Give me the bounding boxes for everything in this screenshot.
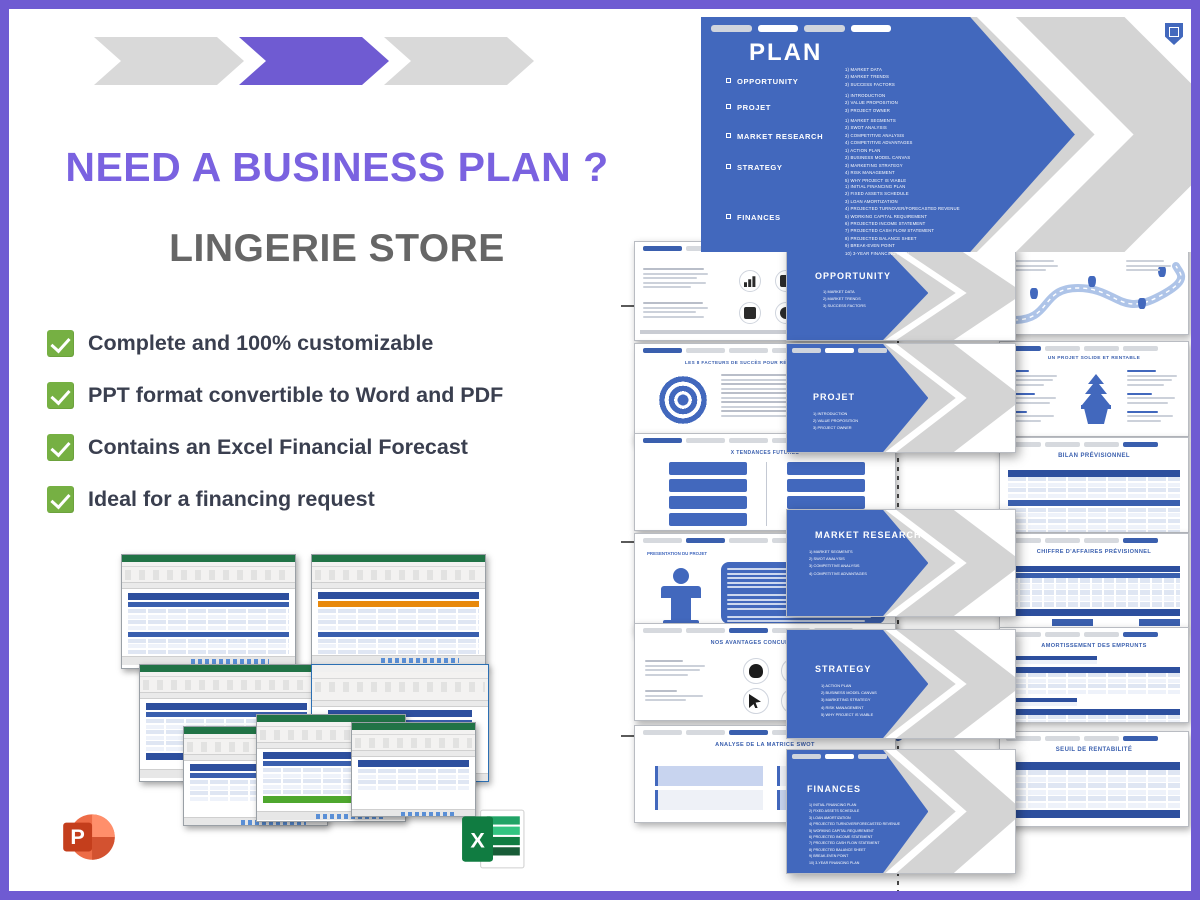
slide-heading: PROJET [813, 392, 855, 402]
people-icon [744, 307, 756, 319]
slide-nav [792, 754, 888, 759]
list-item: Complete and 100% customizable [47, 317, 627, 369]
slide-list: 1) ACTION PLAN 2) BUSINESS MODEL CANVAS … [821, 682, 877, 718]
checkbox-icon [726, 133, 731, 138]
checkbox-icon [726, 214, 731, 219]
slide-heading: STRATEGY [815, 664, 871, 674]
slide-list: 1) INTRODUCTION 2) VALUE PROPOSITION 3) … [813, 410, 858, 432]
plan-items-projet: 1) INTRODUCTION 2) VALUE PROPOSITION 3) … [845, 92, 898, 114]
slide-heading: OPPORTUNITY [815, 271, 891, 281]
list-item: Ideal for a financing request [47, 473, 627, 525]
powerpoint-icon: P [57, 804, 123, 870]
plan-items-market-research: 1) MARKET SEGMENTS 2) SWOT ANALYSIS 3) C… [845, 117, 913, 147]
thumb-text-left-2 [643, 302, 711, 320]
thumb-title: PRESENTATION DU PROJET [647, 551, 707, 556]
thumb-title: ANALYSE DE LA MATRICE SWOT [635, 742, 895, 748]
roadmap-thumb[interactable] [999, 239, 1189, 335]
balance-sheet-thumb[interactable]: BILAN PRÉVISIONNEL [999, 437, 1189, 533]
thumb-text [1126, 260, 1174, 274]
slide-heading: MARKET RESEARCH [815, 530, 922, 540]
feature-label: Complete and 100% customizable [88, 331, 433, 356]
table [1008, 656, 1180, 723]
thumb-title: SEUIL DE RENTABILITÉ [1000, 747, 1188, 753]
excel-icon: X [459, 806, 527, 872]
opportunity-slide[interactable]: OPPORTUNITY 1) MARKET DATA 2) MARKET TRE… [786, 245, 1016, 341]
plan-section-strategy: STRATEGY [726, 163, 783, 172]
feature-label: PPT format convertible to Word and PDF [88, 383, 503, 408]
slide-list: 1) MARKET SEGMENTS 2) SWOT ANALYSIS 3) C… [809, 548, 867, 577]
checkbox-icon [726, 78, 731, 83]
slide-nav [1006, 736, 1158, 741]
finances-slide[interactable]: FINANCES 1) INITIAL FINANCING PLAN 2) FI… [786, 749, 1016, 874]
slide-list: 1) MARKET DATA 2) MARKET TRENDS 3) SUCCE… [823, 288, 866, 310]
thumb-title: AMORTISSEMENT DES EMPRUNTS [1000, 643, 1188, 649]
slide-heading: FINANCES [807, 784, 861, 794]
check-icon [47, 486, 74, 513]
list-item: Contains an Excel Financial Forecast [47, 421, 627, 473]
plan-items-finances: 1) INITIAL FINANCING PLAN 2) FIXED ASSET… [845, 183, 960, 257]
label-group-right [1127, 370, 1179, 424]
slide-nav [711, 25, 891, 32]
excel-window-7[interactable] [351, 722, 476, 817]
slide-list: 1) INITIAL FINANCING PLAN 2) FIXED ASSET… [809, 802, 900, 866]
map-pin-icon [1030, 288, 1038, 299]
market-research-slide[interactable]: MARKET RESEARCH 1) MARKET SEGMENTS 2) SW… [786, 509, 1016, 617]
map-pin-icon [1138, 298, 1146, 309]
thumb-text [1014, 260, 1062, 274]
table [1008, 470, 1180, 533]
plan-section-projet: PROJET [726, 103, 771, 112]
page-subtitle: LINGERIE STORE [57, 227, 617, 271]
plan-section-opportunity: OPPORTUNITY [726, 77, 798, 86]
slide-heading: PLAN [749, 39, 822, 67]
plan-items-strategy: 1) ACTION PLAN 2) BUSINESS MODEL CANVAS … [845, 147, 910, 184]
table [1008, 566, 1180, 626]
label-group-left [1009, 370, 1059, 424]
plan-items-opportunity: 1) MARKET DATA 2) MARKET TRENDS 3) SUCCE… [845, 66, 895, 88]
checkbox-icon [726, 164, 731, 169]
slide-nav [1006, 632, 1158, 637]
thumb-text-left-2 [645, 690, 707, 704]
table [1008, 762, 1180, 818]
svg-text:P: P [70, 824, 84, 849]
list-item: PPT format convertible to Word and PDF [47, 369, 627, 421]
poster-canvas: NEED A BUSINESS PLAN ? LINGERIE STORE Co… [9, 9, 1191, 891]
thumb-title: BILAN PRÉVISIONNEL [1000, 453, 1188, 459]
thumb-title: UN PROJET SOLIDE ET RENTABLE [1000, 356, 1188, 361]
slide-deck-mosaic: LES 8 FACTEURS DE SUCCÈS POUR RÉUSSIR NO… [621, 9, 1191, 891]
solid-project-thumb[interactable]: UN PROJET SOLIDE ET RENTABLE [999, 341, 1189, 437]
stepper-chevron-1[interactable] [94, 37, 244, 85]
plan-section-market-research: MARKET RESEARCH [726, 132, 823, 141]
feature-label: Contains an Excel Financial Forecast [88, 435, 468, 460]
check-icon [47, 434, 74, 461]
binoculars-icon [749, 664, 763, 678]
plan-section-finances: FINANCES [726, 213, 781, 222]
check-icon [47, 382, 74, 409]
slide-nav [1006, 538, 1158, 543]
feature-list: Complete and 100% customizable PPT forma… [47, 317, 627, 525]
excel-window-1[interactable] [121, 554, 296, 669]
map-pin-icon [1088, 276, 1096, 287]
plan-slide[interactable]: PLAN OPPORTUNITY 1) MARKET DATA 2) MARKE… [701, 17, 1191, 252]
slide-nav [1006, 346, 1158, 351]
feature-label: Ideal for a financing request [88, 487, 375, 512]
checkbox-icon [726, 104, 731, 109]
stepper-chevron-3[interactable] [384, 37, 534, 85]
slide-nav [1006, 442, 1158, 447]
strategy-slide[interactable]: STRATEGY 1) ACTION PLAN 2) BUSINESS MODE… [786, 629, 1016, 739]
break-even-thumb[interactable]: SEUIL DE RENTABILITÉ [999, 731, 1189, 827]
svg-text:X: X [470, 827, 485, 852]
chevron-stepper [94, 37, 534, 85]
revenue-thumb[interactable]: CHIFFRE D'AFFAIRES PRÉVISIONNEL [999, 533, 1189, 629]
slide-nav [792, 348, 888, 353]
thumb-text-left [643, 268, 711, 291]
loan-amortization-thumb[interactable]: AMORTISSEMENT DES EMPRUNTS [999, 627, 1189, 723]
thumb-title: CHIFFRE D'AFFAIRES PRÉVISIONNEL [1000, 549, 1188, 555]
page-title: NEED A BUSINESS PLAN ? [57, 144, 617, 191]
thumb-text-left [645, 660, 707, 678]
check-icon [47, 330, 74, 357]
target-icon [659, 376, 707, 424]
excel-window-2[interactable] [311, 554, 486, 669]
stepper-chevron-2[interactable] [239, 37, 389, 85]
projet-slide[interactable]: PROJET 1) INTRODUCTION 2) VALUE PROPOSIT… [786, 343, 1016, 453]
